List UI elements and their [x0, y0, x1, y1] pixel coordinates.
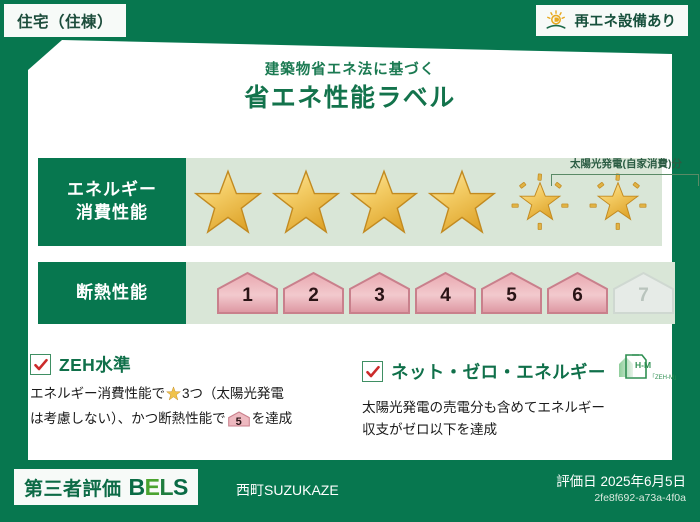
evaluation-id: 2fe8f692-a73a-4f0a: [556, 492, 686, 504]
zeh-body-part1: エネルギー消費性能で: [30, 386, 165, 401]
title-subtitle: 建築物省エネ法に基づく: [0, 62, 700, 79]
check-icon: [362, 361, 383, 382]
evaluation-info: 評価日 2025年6月5日 2fe8f692-a73a-4f0a: [556, 470, 686, 504]
criterion-zeh-title: ZEH水準: [59, 352, 131, 377]
star-icon: [424, 164, 500, 240]
criterion-zeh-body: エネルギー消費性能で3つ（太陽光発電は考慮しない）、かつ断熱性能で5を達成: [30, 383, 336, 434]
criterion-nze-header: ネット・ゼロ・エネルギー H-M 「ZEH-M」: [362, 352, 656, 391]
building-type-label: 住宅（住棟）: [17, 10, 113, 32]
energy-star-rating: 太陽光発電(自家消費)分: [186, 158, 662, 246]
label-footer: 第三者評価 BELS 西町SUZUKAZE 評価日 2025年6月5日 2fe8…: [0, 460, 700, 522]
building-type-chip: 住宅（住棟）: [4, 4, 126, 37]
stars-container: [186, 158, 656, 246]
zeh-body-part3: は考慮しない）、かつ断熱性能で: [30, 411, 226, 426]
bels-certification-chip: 第三者評価 BELS: [14, 469, 198, 505]
criterion-zeh-standard: ZEH水準 エネルギー消費性能で3つ（太陽光発電は考慮しない）、かつ断熱性能で5…: [30, 352, 350, 441]
energy-performance-label: 住宅（住棟） 再エネ設備あり 建築物省エネ法に基づく 省エネ性能ラベル: [0, 0, 700, 522]
insulation-performance-row: 断熱性能 1 2: [38, 262, 662, 324]
svg-text:「ZEH-M」: 「ZEH-M」: [649, 374, 676, 381]
solar-bracket: [551, 174, 699, 186]
label-title-block: 建築物省エネ法に基づく 省エネ性能ラベル: [0, 62, 700, 113]
title-main: 省エネ性能ラベル: [0, 83, 700, 113]
renewable-equipment-badge: 再エネ設備あり: [536, 5, 689, 36]
insulation-level-badge: 2: [282, 271, 345, 315]
energy-name-line1: エネルギー: [67, 179, 157, 202]
criterion-nze-title: ネット・ゼロ・エネルギー: [391, 359, 606, 384]
bels-jp-label: 第三者評価: [24, 474, 122, 501]
criterion-net-zero-energy: ネット・ゼロ・エネルギー H-M 「ZEH-M」 太陽光発電の売電分: [350, 352, 670, 441]
insulation-level-badge: 6: [546, 271, 609, 315]
svg-text:H-M: H-M: [635, 360, 651, 370]
zeh-m-logo-icon: H-M 「ZEH-M」: [616, 352, 676, 391]
nze-body-line2: 収支がゼロ以下を達成: [362, 419, 656, 441]
insulation-level-scale: 1 2 3 4: [186, 262, 675, 324]
insulation-name-label: 断熱性能: [76, 282, 148, 305]
energy-name-line2: 消費性能: [76, 202, 148, 225]
inline-house-badge: 5: [228, 411, 250, 434]
evaluation-date: 評価日 2025年6月5日: [556, 470, 686, 490]
insulation-level-badge: 5: [480, 271, 543, 315]
bels-en-logo: BELS: [129, 474, 188, 501]
zeh-body-part2: 3つ（太陽光発電: [182, 386, 284, 401]
insulation-level-badge-inactive: 7: [612, 271, 675, 315]
inline-house-number: 5: [228, 414, 250, 432]
star-icon: [268, 164, 344, 240]
energy-performance-row: エネルギー 消費性能 太陽光発電(自家消費)分: [38, 158, 662, 246]
renewable-badge-label: 再エネ設備あり: [575, 10, 677, 31]
insulation-level-badge: 3: [348, 271, 411, 315]
insulation-level-badge: 1: [216, 271, 279, 315]
check-icon: [30, 354, 51, 375]
sun-solar-icon: [544, 10, 568, 32]
insulation-level-badge: 4: [414, 271, 477, 315]
criterion-nze-body: 太陽光発電の売電分も含めてエネルギー 収支がゼロ以下を達成: [362, 397, 656, 441]
nze-body-line1: 太陽光発電の売電分も含めてエネルギー: [362, 397, 656, 419]
star-icon: [190, 164, 266, 240]
solar-contribution-note: 太陽光発電(自家消費)分: [541, 156, 700, 171]
star-icon: [346, 164, 422, 240]
inline-star-icon: [166, 386, 181, 408]
zeh-body-part4: を達成: [252, 411, 292, 426]
energy-performance-name: エネルギー 消費性能: [38, 158, 186, 246]
criterion-zeh-header: ZEH水準: [30, 352, 336, 377]
insulation-performance-name: 断熱性能: [38, 262, 186, 324]
insulation-levels-container: 1 2 3 4: [186, 262, 675, 324]
property-name: 西町SUZUKAZE: [236, 480, 339, 500]
criteria-section: ZEH水準 エネルギー消費性能で3つ（太陽光発電は考慮しない）、かつ断熱性能で5…: [30, 352, 670, 441]
